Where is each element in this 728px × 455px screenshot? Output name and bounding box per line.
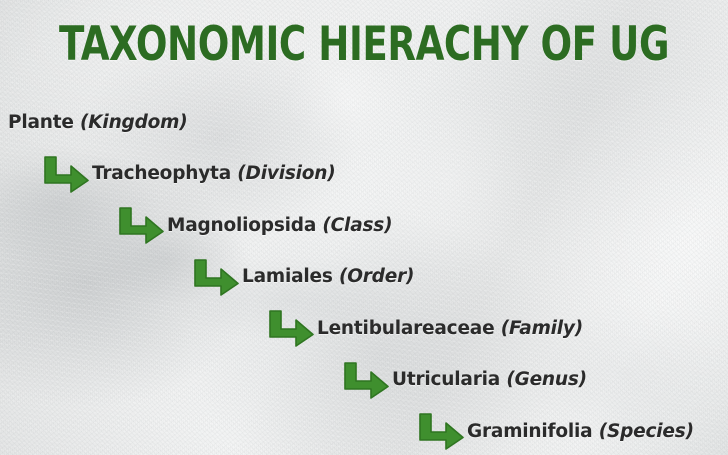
taxonomy-row: Plante(Kingdom) [8,100,187,144]
taxon-rank: (Genus) [506,369,587,390]
taxonomy-row: Lamiales(Order) [188,255,414,299]
elbow-arrow-icon [188,258,240,296]
taxon-rank: (Species) [599,421,694,442]
taxon-name: Plante [8,112,74,133]
taxon-rank: (Division) [237,163,335,184]
taxonomy-row: Magnoliopsida(Class) [113,203,392,247]
taxon-rank: (Kingdom) [80,112,187,133]
elbow-arrow-icon [38,155,90,193]
taxonomy-row: Utricularia(Genus) [338,358,587,402]
taxon-label: Magnoliopsida(Class) [167,215,392,236]
taxonomy-row: Tracheophyta(Division) [38,152,336,196]
taxonomy-row: Graminifolia(Species) [413,409,694,453]
taxon-name: Tracheophyta [92,163,231,184]
elbow-arrow-icon [263,309,315,347]
elbow-arrow-icon [338,361,390,399]
taxon-name: Graminifolia [467,421,592,442]
taxon-rank: (Order) [339,266,414,287]
taxonomy-hierarchy-list: Plante(Kingdom)Tracheophyta(Division)Mag… [0,0,728,455]
taxonomy-row: Lentibulareaceae(Family) [263,306,583,350]
taxon-rank: (Class) [322,215,392,236]
taxon-name: Lamiales [242,266,333,287]
taxon-name: Utricularia [392,369,500,390]
taxon-label: Utricularia(Genus) [392,369,587,390]
taxon-name: Magnoliopsida [167,215,316,236]
taxon-label: Lamiales(Order) [242,266,414,287]
poster-canvas: TAXONOMIC HIERACHY OF UG Plante(Kingdom)… [0,0,728,455]
taxon-label: Plante(Kingdom) [8,112,187,133]
taxon-label: Lentibulareaceae(Family) [317,318,583,339]
elbow-arrow-icon [413,412,465,450]
taxon-name: Lentibulareaceae [317,318,494,339]
taxon-rank: (Family) [501,318,583,339]
taxon-label: Graminifolia(Species) [467,421,694,442]
elbow-arrow-icon [113,206,165,244]
taxon-label: Tracheophyta(Division) [92,163,336,184]
